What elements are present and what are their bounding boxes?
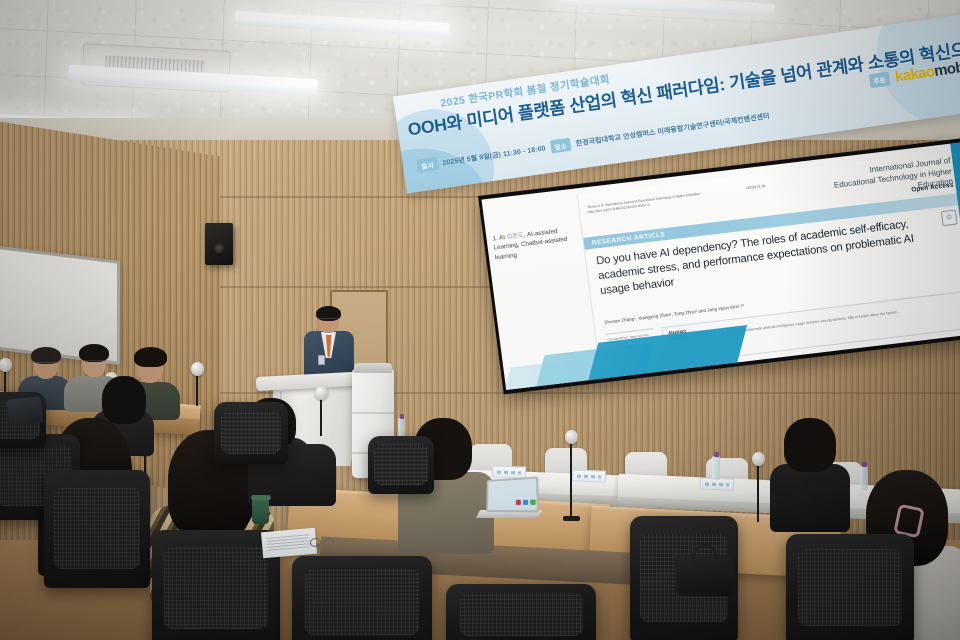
audience-chair [786, 534, 914, 640]
person-hair [134, 347, 167, 367]
glasses-icon [310, 538, 334, 546]
slide-left-note: 1. AI 의존도, AI-assisted Learning, Chatbot… [492, 225, 579, 263]
name-card [572, 469, 606, 482]
chair-mesh [798, 549, 903, 626]
glasses-icon [318, 318, 339, 323]
sponsor-chip: 후원 [868, 71, 890, 88]
laptop[interactable] [478, 478, 540, 518]
slide-note-part-a: 1. AI [492, 234, 507, 243]
presenter [300, 308, 356, 380]
laptop-icon-blue [523, 500, 528, 505]
audience-member [770, 418, 850, 522]
handbag [676, 556, 734, 596]
person-hair [102, 376, 146, 424]
audience-chair [44, 470, 150, 588]
printed-handout [261, 528, 317, 559]
desk-microphone [757, 462, 760, 522]
paper-citation-line: Zhang et al. International Journal of Ed… [587, 187, 737, 215]
conference-photo: PR 사단법인 한국 2025 한국PR학회 봄철 정기학술대회 OOH와 미디… [0, 0, 960, 640]
laptop-icon-green [530, 500, 535, 505]
creative-commons-badge-icon: © [941, 210, 958, 227]
audience-chair [368, 436, 434, 494]
chair-mesh [460, 593, 583, 636]
mic-stem [757, 462, 759, 522]
chair-mesh [374, 444, 428, 485]
banner-place-text: 한경국립대학교 안성캠퍼스 미래융합기술연구센터/국제컨벤션센터 [575, 111, 770, 149]
chair-mesh [164, 547, 269, 630]
paper-volume: (2024) 21:34 [746, 184, 766, 190]
slide-note-part-b: , AI-assisted Learning, Chatbot-assisted… [493, 228, 567, 261]
laptop-screen-icons [516, 500, 536, 505]
wall-speaker-icon [205, 223, 233, 265]
coffee-cup-lid [251, 495, 271, 500]
mic-base [563, 516, 580, 521]
laptop-icon-red [516, 500, 521, 505]
person-hair [784, 418, 836, 472]
desk-microphone [196, 372, 199, 406]
person-torso [770, 464, 850, 532]
mic-head-icon [191, 362, 204, 376]
audience-chair [292, 556, 432, 640]
presenter-name-badge [318, 355, 325, 365]
mic-head-icon [565, 430, 578, 444]
mic-stem [570, 440, 572, 518]
bottle-cap [862, 462, 867, 467]
audience-chair [214, 402, 288, 464]
journal-name: International Journal of Educational Tec… [831, 156, 954, 202]
chair-mesh [54, 487, 141, 570]
desk-microphone [570, 440, 573, 518]
chair-mesh [221, 411, 282, 454]
research-article-label: RESEARCH ARTICLE [592, 231, 666, 247]
glasses-icon [35, 362, 57, 367]
mic-stem [196, 372, 198, 406]
air-purifier-top [354, 363, 392, 373]
laptop-screen [486, 476, 539, 512]
glasses-icon [83, 360, 105, 365]
audience-chair [446, 584, 596, 640]
audience-chair [152, 530, 280, 640]
slide-note-highlight: 의존도 [506, 232, 524, 241]
coffee-cup [252, 498, 269, 524]
mic-head-icon [315, 386, 328, 400]
water-bottle [712, 456, 720, 480]
mic-head-icon [752, 452, 765, 466]
tablet-device[interactable] [7, 396, 44, 425]
chair-mesh [305, 569, 420, 635]
banner-place-chip: 장소 [550, 138, 572, 154]
desk-microphone [4, 368, 7, 394]
bottle-cap [714, 452, 719, 457]
